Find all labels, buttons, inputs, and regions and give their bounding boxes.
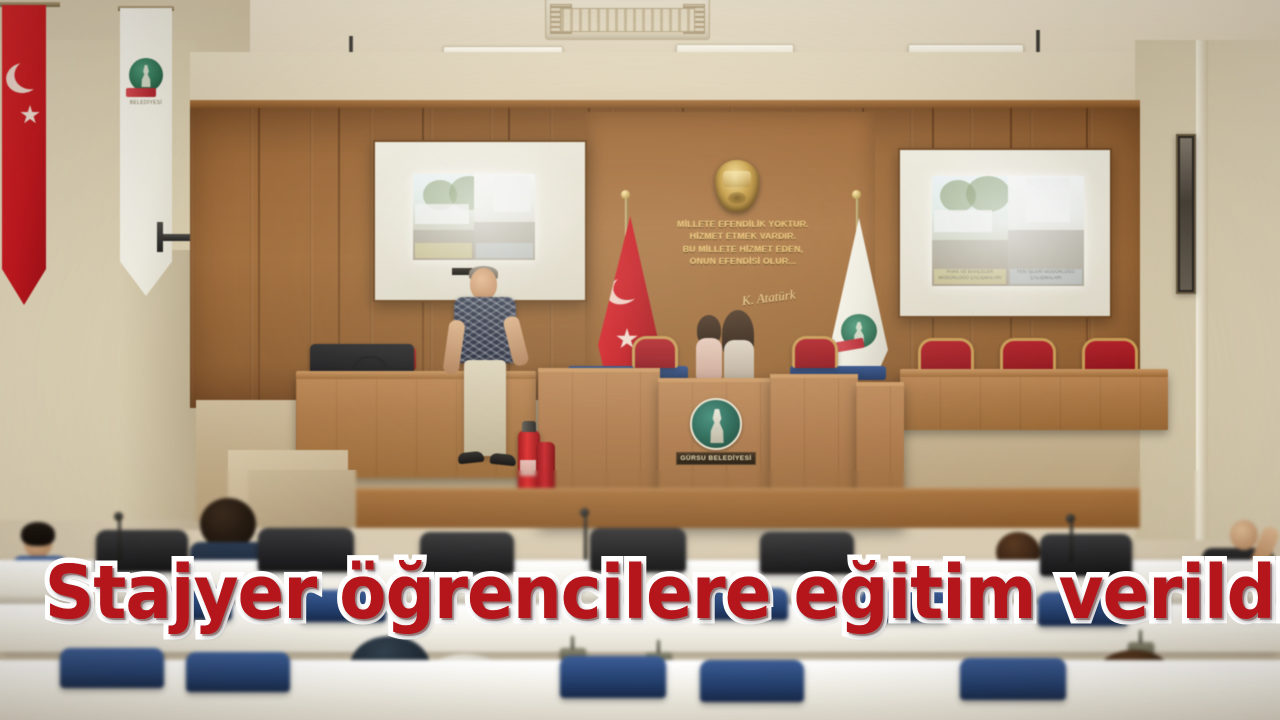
banner-caption: BELEDİYESİ: [120, 100, 172, 106]
seated-person-2: [722, 312, 756, 380]
news-photo: BELEDİYESİ MİLLETE EFENDİLİK YOKTUR. HİZ…: [0, 0, 1280, 720]
headline: Stajyer öğrencilere eğitim verildi: [45, 556, 1235, 630]
microphone-head: [1066, 514, 1075, 523]
wall-quote-line-4: ONUN EFENDİSİ OLUR...: [648, 255, 838, 267]
turkish-flag-banner: [2, 5, 46, 305]
ataturk-relief-icon: [715, 160, 759, 212]
projection-screen-right: PARK VE BAHÇELER MÜDÜRLÜĞÜ ÇALIŞMALARI F…: [898, 148, 1112, 318]
presenter-shoe: [457, 451, 484, 465]
wall-quote-line-2: HİZMET ETMEK VARDIR.: [648, 230, 838, 242]
presenter-shoe: [489, 453, 516, 467]
red-chair: [632, 336, 678, 368]
microphone-head: [580, 508, 589, 517]
municipal-emblem-icon: [690, 398, 742, 450]
ceiling-ac-vent-icon: [545, 0, 710, 40]
wall-quote-line-3: BU MİLLETE HİZMET EDEN,: [648, 243, 838, 255]
seated-person-1: [694, 318, 724, 378]
wall-quote: MİLLETE EFENDİLİK YOKTUR. HİZMET ETMEK V…: [648, 218, 838, 268]
audience-chair: [960, 658, 1066, 700]
audience-chair: [60, 648, 164, 688]
audience-chair: [186, 652, 290, 692]
audience-chair: [700, 660, 804, 702]
presenter: [452, 268, 522, 498]
framed-picture: [1176, 134, 1196, 294]
wall-quote-line-1: MİLLETE EFENDİLİK YOKTUR.: [648, 218, 838, 230]
flagpole-finial: [852, 190, 861, 199]
wall-corner: [1196, 40, 1208, 540]
municipality-banner: BELEDİYESİ: [120, 8, 172, 296]
stage-front-facing: [340, 488, 1140, 528]
microphone-head: [114, 512, 123, 521]
fire-extinguisher: [536, 442, 555, 492]
podium-nameplate: GÜRSU BELEDİYESİ: [676, 452, 756, 465]
audience-chair: [560, 656, 666, 698]
tv-arm: [157, 222, 163, 252]
flagpole-finial: [621, 190, 630, 199]
red-chair: [792, 336, 838, 368]
tv-arm: [160, 234, 192, 241]
podium-nameplate-text: GÜRSU BELEDİYESİ: [680, 455, 751, 462]
council-desk-right: [900, 372, 1168, 430]
